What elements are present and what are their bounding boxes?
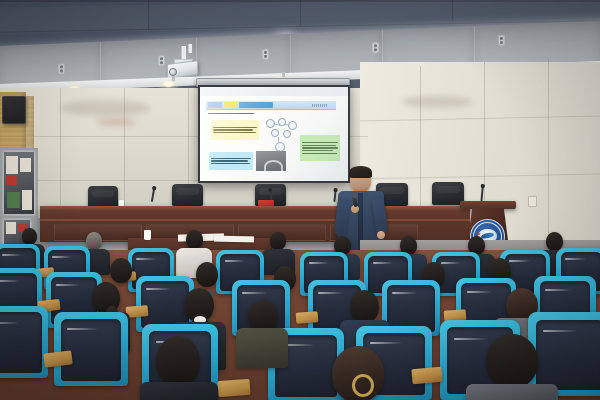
table-top-edge (40, 206, 470, 211)
notice-paper (20, 158, 31, 172)
ceiling-outlet-plate (58, 63, 65, 74)
wall-tile-line (548, 58, 549, 242)
diagram-node (288, 121, 297, 130)
thumbnail-arch-shape (264, 160, 283, 171)
seat-tablet-arm[interactable] (217, 379, 250, 397)
diagram-node (271, 129, 279, 137)
audience-head (486, 334, 538, 388)
slide-title (208, 113, 254, 114)
head-table-chair[interactable] (88, 186, 118, 208)
slide-tab (239, 102, 273, 108)
notice-paper (6, 156, 18, 174)
projector-lens-icon (169, 68, 177, 76)
slide-tab (208, 102, 222, 108)
lecture-hall-photo (0, 0, 600, 400)
ceiling-seam (300, 0, 301, 26)
wall-smudge (402, 96, 472, 108)
wall-smudge (60, 100, 150, 116)
podium-top (460, 201, 516, 209)
slide-thumbnail (256, 151, 286, 171)
projector-mount-pole (181, 46, 186, 60)
audience-body (466, 384, 558, 400)
audience-body (140, 382, 218, 400)
audience-head (186, 230, 203, 249)
downlight (162, 81, 175, 88)
audience-head (196, 262, 218, 287)
audience-head (110, 258, 132, 283)
slide-box-yellow (211, 120, 259, 140)
ceiling-seam (452, 0, 453, 20)
projection-screen[interactable] (198, 85, 350, 183)
projector-mount-pole (188, 44, 192, 53)
seat-tablet-arm[interactable] (411, 367, 442, 385)
audience-head (270, 232, 286, 250)
water-cup (144, 230, 151, 240)
audience-body (236, 328, 288, 368)
ceiling-outlet-plate (372, 42, 379, 53)
wall-speaker (2, 96, 26, 124)
wall-outlet[interactable] (528, 196, 537, 207)
slide-box-cyan (209, 152, 253, 170)
ceiling-outlet-plate (158, 55, 165, 66)
seat-tablet-arm[interactable] (296, 311, 319, 324)
ceiling-seam (148, 0, 149, 30)
notice-paper (6, 222, 16, 234)
notice-poster (6, 176, 17, 185)
table-rail (40, 219, 470, 221)
wall-smudge (96, 118, 136, 126)
spot-fitting (282, 72, 285, 77)
slide-top-band (200, 87, 348, 96)
slide-box-green (300, 135, 340, 161)
seat[interactable] (54, 312, 128, 386)
seat[interactable] (0, 306, 48, 378)
head-table-chair[interactable] (172, 184, 203, 206)
audience-head (22, 228, 37, 245)
spot-fitting (172, 76, 175, 81)
diagram-node (283, 130, 291, 138)
ceiling-outlet-plate (262, 49, 269, 60)
notice-poster (7, 192, 20, 208)
diagram-link (278, 137, 279, 143)
screen-surface (200, 87, 348, 181)
desk-papers (214, 236, 254, 243)
audience-head (350, 290, 379, 323)
hair-clip (352, 374, 374, 397)
audience-head (156, 336, 200, 386)
presenter-hair (349, 166, 372, 178)
audience-head (86, 232, 102, 250)
slide-tab-active (224, 102, 237, 108)
presenter-hand (377, 231, 385, 239)
slide-header-dots (312, 104, 327, 107)
notice-paper (22, 190, 32, 210)
microphone-head-icon (352, 193, 357, 198)
notice-display-case[interactable] (0, 148, 38, 218)
ceiling-outlet-plate (498, 35, 505, 46)
